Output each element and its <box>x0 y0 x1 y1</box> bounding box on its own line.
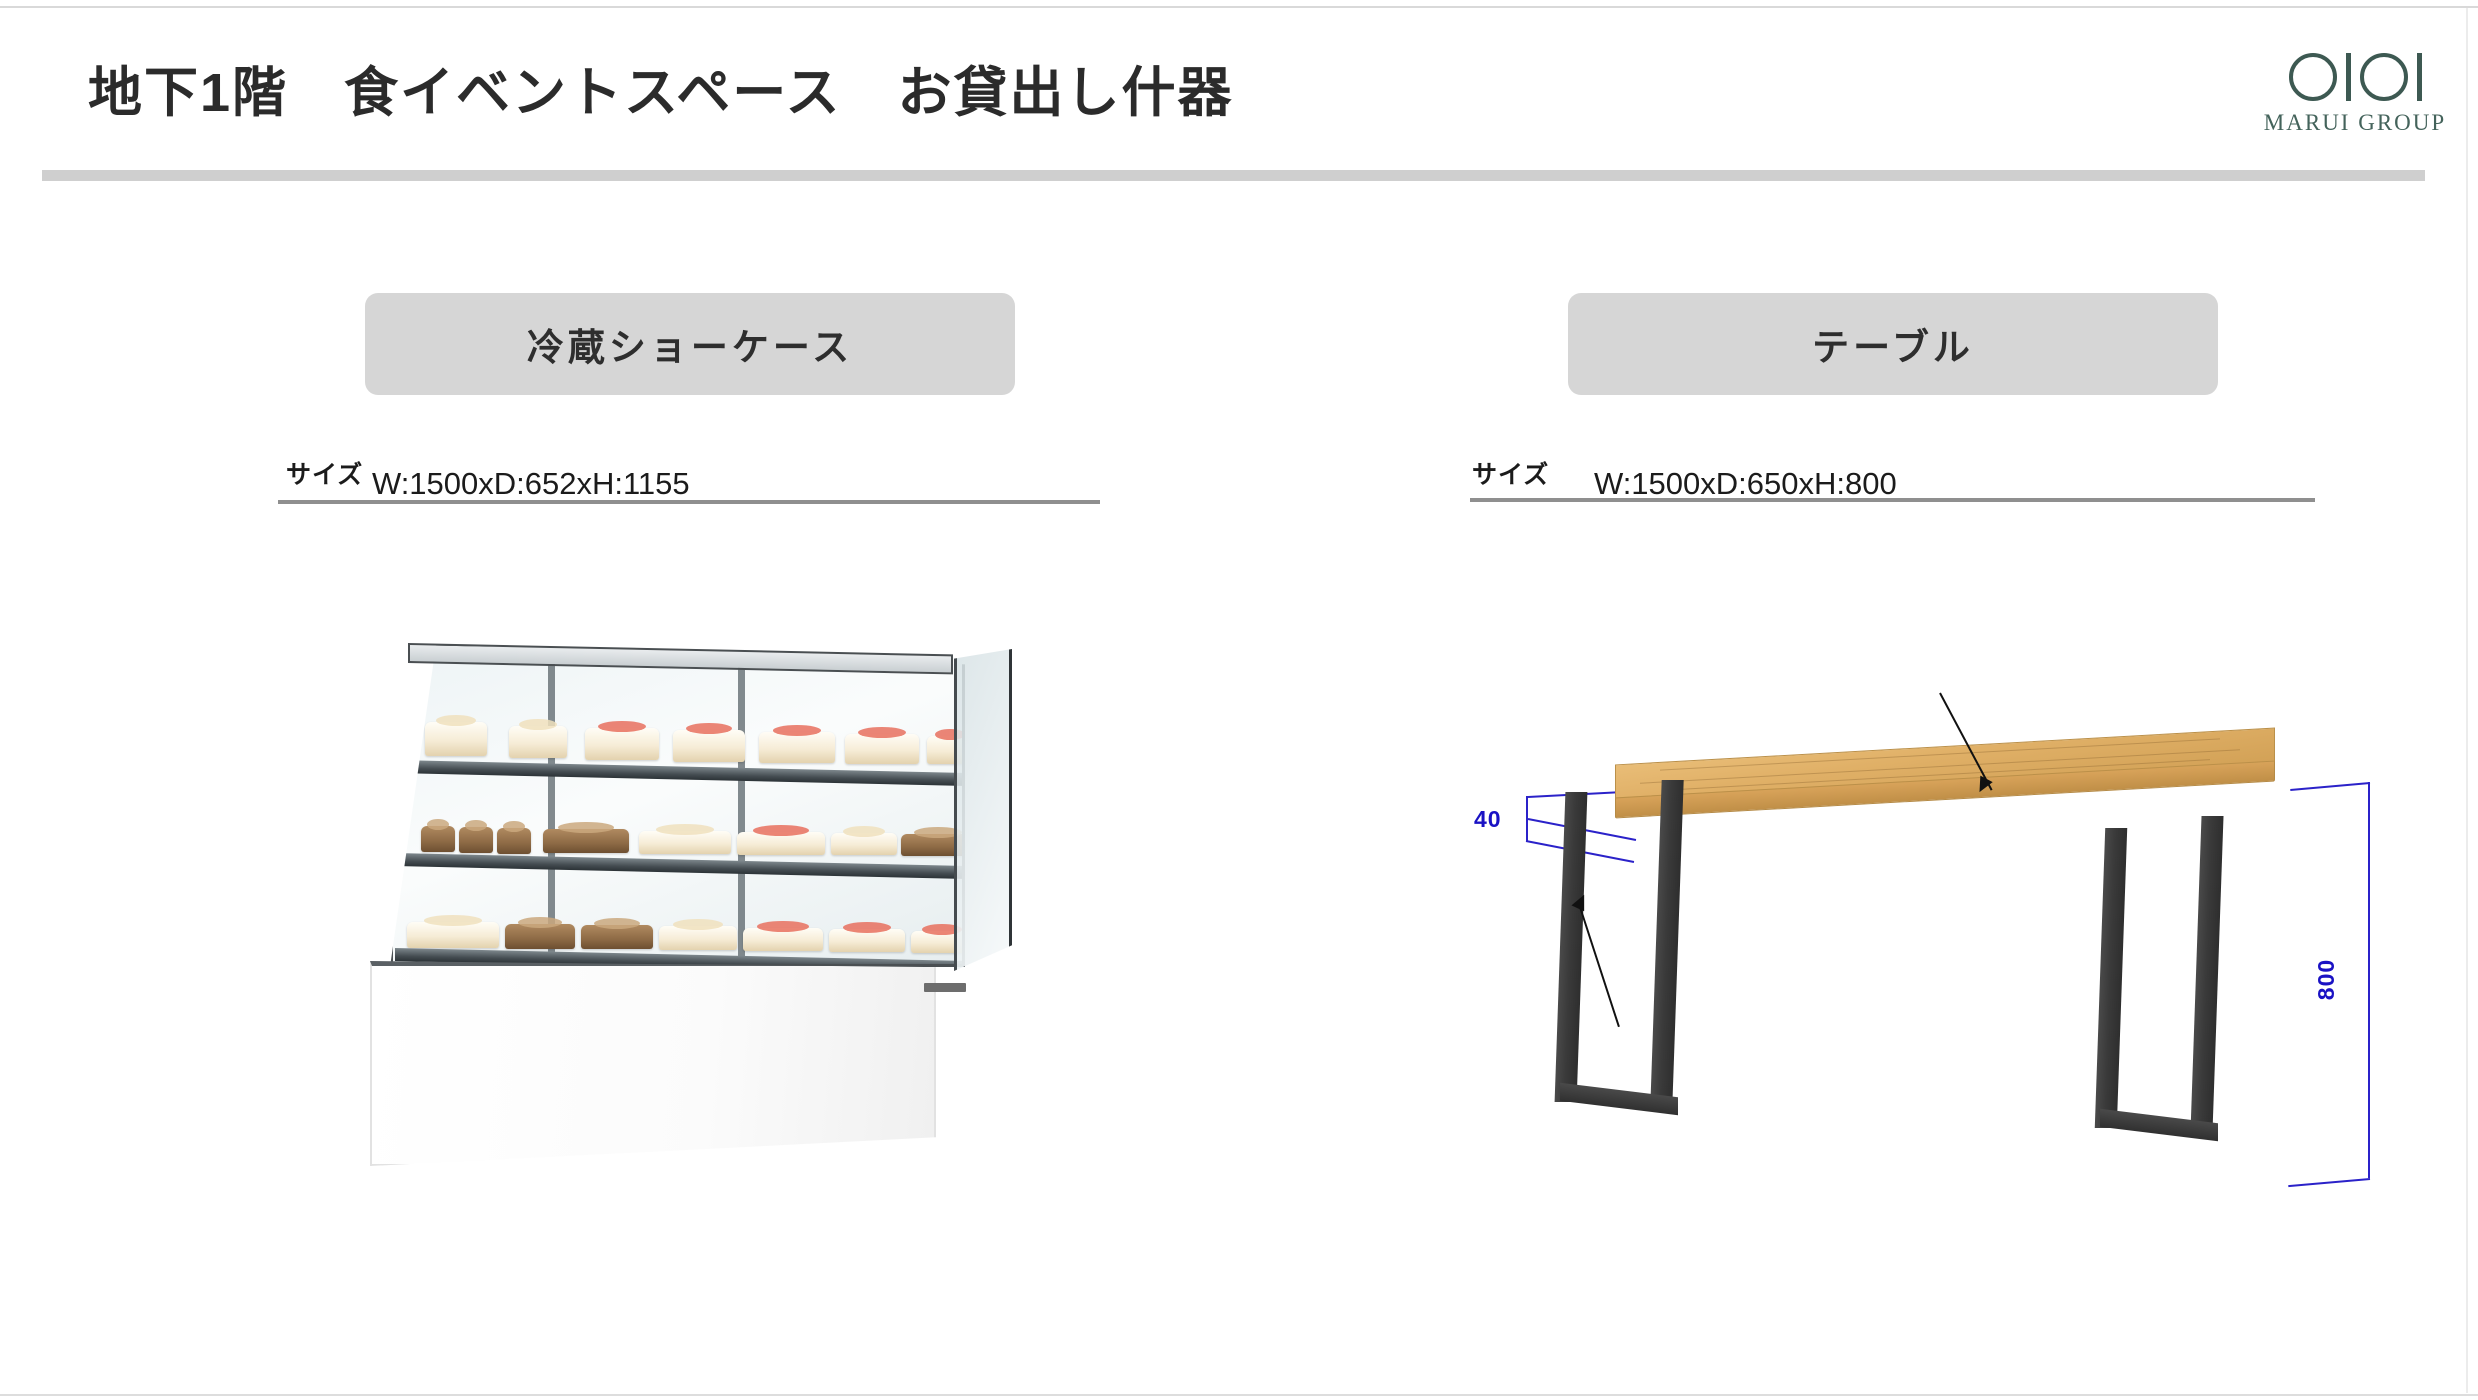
header-divider-rule <box>42 170 2425 181</box>
showcase-mullion <box>738 660 745 962</box>
logo-circle-left-icon <box>2289 53 2337 101</box>
dimension-line-height <box>2368 782 2370 1178</box>
table-leg-right-inner <box>2190 816 2223 1132</box>
showcase-pastry <box>497 828 531 854</box>
oioi-logo-mark <box>2255 48 2455 106</box>
category-label-table: テーブル <box>1812 317 1974 371</box>
showcase-pastry <box>737 832 825 855</box>
table-leg-left-outer <box>1555 792 1588 1102</box>
dimension-tick-thickness <box>1526 818 1528 842</box>
showcase-pastry <box>421 826 455 852</box>
dimension-tick-height-top <box>2290 782 2370 791</box>
showcase-pastry <box>829 929 905 952</box>
showcase-pastry <box>659 926 737 950</box>
showcase-cake <box>425 722 487 756</box>
showcase-pastry <box>459 827 493 853</box>
size-value-showcase: W:1500xD:652xH:1155 <box>372 466 690 502</box>
category-label-showcase: 冷蔵ショーケース <box>527 317 853 371</box>
dimension-tick-height-bottom <box>2288 1178 2370 1187</box>
logo-bar-left-icon <box>2346 53 2351 101</box>
slide-right-border <box>2466 8 2468 1393</box>
slide-bottom-border <box>0 1394 2478 1396</box>
dimension-label-height: 800 <box>2313 959 2340 1000</box>
showcase-shelf <box>395 853 965 879</box>
refrigerated-showcase-image <box>370 645 1010 1175</box>
dimension-tick-width-left <box>1526 796 1528 818</box>
table-leg-left-inner <box>1650 780 1683 1106</box>
size-value-table: W:1500xD:650xH:800 <box>1594 466 1897 502</box>
showcase-cake <box>845 734 919 764</box>
showcase-glass-cabinet <box>390 645 965 967</box>
showcase-pastry <box>831 833 897 855</box>
leader-line-leg <box>1579 907 1620 1027</box>
size-underline-showcase <box>278 500 1100 504</box>
category-chip-table: テーブル <box>1568 293 2218 395</box>
showcase-side-glass <box>954 649 1012 971</box>
showcase-pastry <box>581 925 653 949</box>
slide-top-border <box>0 6 2478 8</box>
showcase-cake <box>673 730 745 762</box>
page-title: 地下1階 食イベントスペース お貸出し什器 <box>88 48 1234 127</box>
showcase-pastry <box>505 924 575 949</box>
size-key-showcase: サイズ <box>286 455 363 491</box>
table-technical-drawing: 1500 40 800 <box>1470 650 2430 1190</box>
logo-wordmark: MARUI GROUP <box>2255 110 2455 136</box>
marui-group-logo: MARUI GROUP <box>2255 48 2455 136</box>
showcase-pastry <box>743 928 823 951</box>
showcase-brand-badge-icon <box>924 983 966 992</box>
showcase-cake <box>509 726 567 758</box>
showcase-pastry <box>639 831 731 854</box>
logo-circle-right-icon <box>2360 53 2408 101</box>
size-underline-table <box>1470 498 2315 502</box>
category-chip-showcase: 冷蔵ショーケース <box>365 293 1015 395</box>
dimension-label-thickness: 40 <box>1474 806 1502 833</box>
showcase-pastry <box>543 829 629 853</box>
size-key-table: サイズ <box>1472 455 1549 491</box>
showcase-cake <box>585 728 659 760</box>
logo-bar-right-icon <box>2417 53 2422 101</box>
showcase-base-cabinet <box>370 961 936 1166</box>
showcase-pastry <box>407 922 499 948</box>
slide-canvas: 地下1階 食イベントスペース お貸出し什器 MARUI GROUP 冷蔵ショーケ… <box>0 0 2478 1400</box>
showcase-cake <box>759 732 835 763</box>
table-leg-right-outer <box>2095 828 2127 1128</box>
